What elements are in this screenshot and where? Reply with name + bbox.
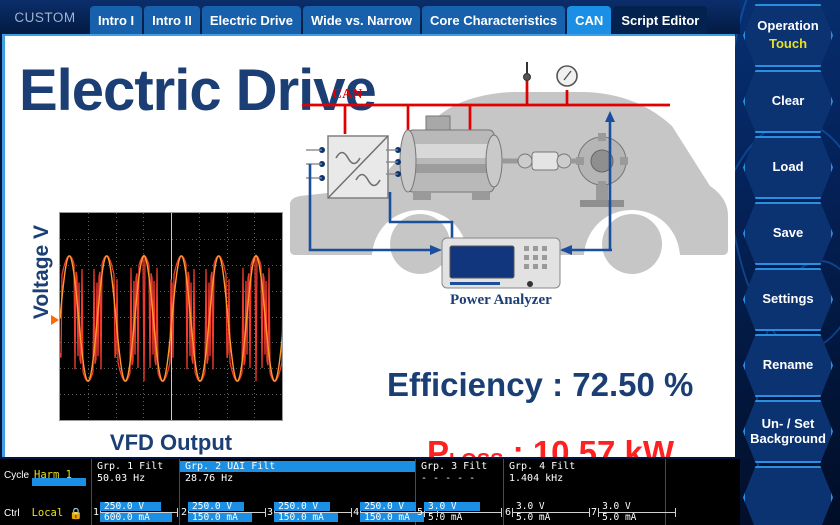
sensor-icons	[524, 62, 578, 86]
tab-intro-2[interactable]: Intro II	[144, 6, 200, 34]
tab-intro-1[interactable]: Intro I	[90, 6, 142, 34]
softkey-settings[interactable]: Settings	[743, 268, 833, 331]
scope-caption: VFD Output	[59, 430, 283, 456]
status-bar: Cycle Harm 1 Ctrl Local 🔒 Grp. 1 Filt50.…	[0, 459, 740, 525]
softkey-operation-value: Touch	[769, 37, 807, 52]
channel-voltage-value: 250.0 V	[100, 502, 178, 511]
channel-current-bar: 5.0 mA	[512, 513, 590, 522]
softkey-rename[interactable]: Rename	[743, 334, 833, 397]
tab-core-characteristics[interactable]: Core Characteristics	[422, 6, 565, 34]
status-cycle-ctrl: Cycle Harm 1 Ctrl Local 🔒	[0, 459, 92, 525]
channel-voltage-value: 3.0 V	[424, 502, 502, 511]
channel-current-value: 5.0 mA	[424, 513, 502, 522]
softkey-clear[interactable]: Clear	[743, 70, 833, 133]
channel-bars: 250.0 V150.0 mA	[188, 502, 266, 522]
efficiency-label: Efficiency :	[387, 366, 563, 403]
custom-label: CUSTOM	[0, 10, 90, 34]
status-group-header[interactable]: Grp. 1 Filt	[92, 461, 179, 472]
channel-bars: 250.0 V600.0 mA	[100, 502, 178, 522]
softkey-load[interactable]: Load	[743, 136, 833, 199]
status-channel[interactable]: 73.0 V5.0 mA	[590, 502, 676, 522]
oscilloscope-screen: CUSTOM Intro I Intro II Electric Drive W…	[0, 0, 840, 525]
tab-wide-vs-narrow[interactable]: Wide vs. Narrow	[303, 6, 420, 34]
power-loss-readout: PLOSS : 10.57 kW	[427, 434, 674, 457]
channel-current-bar: 150.0 mA	[274, 513, 352, 522]
channel-current-bar: 5.0 mA	[424, 513, 502, 522]
softkey-operation-label: Operation	[757, 19, 818, 34]
channel-bars: 250.0 V150.0 mA	[274, 502, 352, 522]
efficiency-value: 72.50 %	[572, 366, 693, 403]
status-channel[interactable]: 2250.0 V150.0 mA	[180, 502, 266, 522]
waveform-panel: Voltage V VFD Output	[21, 212, 286, 457]
channel-bars: 3.0 V5.0 mA	[512, 502, 590, 522]
status-group-header[interactable]: Grp. 4 Filt	[504, 461, 665, 472]
softkey-operation[interactable]: Operation Touch	[743, 4, 833, 67]
status-channel[interactable]: 3250.0 V150.0 mA	[266, 502, 352, 522]
channel-number: 7	[590, 507, 598, 518]
tab-can[interactable]: CAN	[567, 6, 611, 34]
ctrl-value[interactable]: Local	[32, 507, 64, 519]
status-channel[interactable]: 1250.0 V600.0 mA	[92, 502, 178, 522]
lock-icon[interactable]: 🔒	[69, 507, 83, 520]
channel-current-bar: 150.0 mA	[188, 513, 266, 522]
status-group-3: Grp. 3 Filt- - - - -53.0 V5.0 mA	[416, 459, 504, 525]
channel-voltage-bar: 250.0 V	[188, 502, 266, 511]
trigger-marker-icon	[51, 315, 59, 325]
status-group-header[interactable]: Grp. 3 Filt	[416, 461, 503, 472]
channel-voltage-bar: 3.0 V	[598, 502, 676, 511]
channel-current-value: 5.0 mA	[598, 513, 676, 522]
softkey-save[interactable]: Save	[743, 202, 833, 265]
tab-electric-drive[interactable]: Electric Drive	[202, 6, 301, 34]
inverter-icon	[306, 136, 388, 198]
ploss-separator: :	[513, 434, 524, 457]
status-group-frequency: 1.404 kHz	[504, 473, 665, 484]
channel-voltage-bar: 250.0 V	[274, 502, 352, 511]
pwm-waveform	[60, 213, 283, 421]
status-group-header[interactable]: Grp. 2 UΔI Filt	[180, 461, 415, 472]
channel-current-value: 600.0 mA	[100, 513, 178, 522]
channel-number: 3	[266, 507, 274, 518]
channel-number: 5	[416, 507, 424, 518]
channel-voltage-bar: 250.0 V	[100, 502, 178, 511]
channel-voltage-value: 250.0 V	[274, 502, 352, 511]
cycle-bar	[32, 478, 86, 486]
channel-number: 1	[92, 507, 100, 518]
channel-number: 4	[352, 507, 360, 518]
channel-voltage-bar: 3.0 V	[512, 502, 590, 511]
scope-display[interactable]	[59, 212, 283, 421]
power-analyzer-label: Power Analyzer	[450, 292, 552, 308]
tab-script-editor[interactable]: Script Editor	[613, 6, 707, 34]
status-group-frequency: 28.76 Hz	[180, 473, 415, 484]
channel-bars: 3.0 V5.0 mA	[424, 502, 502, 522]
channel-number: 2	[180, 507, 188, 518]
status-group-4: Grp. 4 Filt1.404 kHz63.0 V5.0 mA73.0 V5.…	[504, 459, 666, 525]
channel-number: 6	[504, 507, 512, 518]
softkey-column: Operation Touch Clear Load Save Settings…	[735, 0, 840, 525]
tab-bar: CUSTOM Intro I Intro II Electric Drive W…	[0, 0, 740, 34]
ploss-label: P	[427, 434, 449, 457]
drive-train-diagram: CAN	[280, 54, 735, 344]
channel-current-bar: 5.0 mA	[598, 513, 676, 522]
softkey-unset-background[interactable]: Un- / Set Background	[743, 400, 833, 463]
status-group-2: Grp. 2 UΔI Filt28.76 Hz2250.0 V150.0 mA3…	[180, 459, 416, 525]
efficiency-readout: Efficiency : 72.50 %	[387, 366, 693, 404]
softkey-empty[interactable]	[743, 466, 833, 525]
channel-current-value: 150.0 mA	[274, 513, 352, 522]
channel-voltage-value: 250.0 V	[188, 502, 266, 511]
channel-current-value: 5.0 mA	[512, 513, 590, 522]
channel-voltage-value: 3.0 V	[598, 502, 676, 511]
power-analyzer-icon	[442, 238, 560, 288]
status-channel[interactable]: 53.0 V5.0 mA	[416, 502, 502, 522]
channel-current-value: 150.0 mA	[188, 513, 266, 522]
content-panel: Electric Drive CAN	[2, 34, 735, 457]
status-channel[interactable]: 63.0 V5.0 mA	[504, 502, 590, 522]
channel-voltage-value: 3.0 V	[512, 502, 590, 511]
cycle-label: Cycle	[4, 470, 29, 481]
ctrl-label: Ctrl	[4, 508, 20, 519]
can-label: CAN	[332, 87, 362, 102]
ploss-subscript: LOSS	[449, 450, 503, 457]
ploss-value: 10.57 kW	[533, 434, 674, 457]
channel-voltage-bar: 3.0 V	[424, 502, 502, 511]
status-group-1: Grp. 1 Filt50.03 Hz1250.0 V600.0 mA	[92, 459, 180, 525]
status-group-frequency: - - - - -	[416, 473, 503, 484]
channel-bars: 3.0 V5.0 mA	[598, 502, 676, 522]
status-group-frequency: 50.03 Hz	[92, 473, 179, 484]
channel-current-bar: 600.0 mA	[100, 513, 178, 522]
